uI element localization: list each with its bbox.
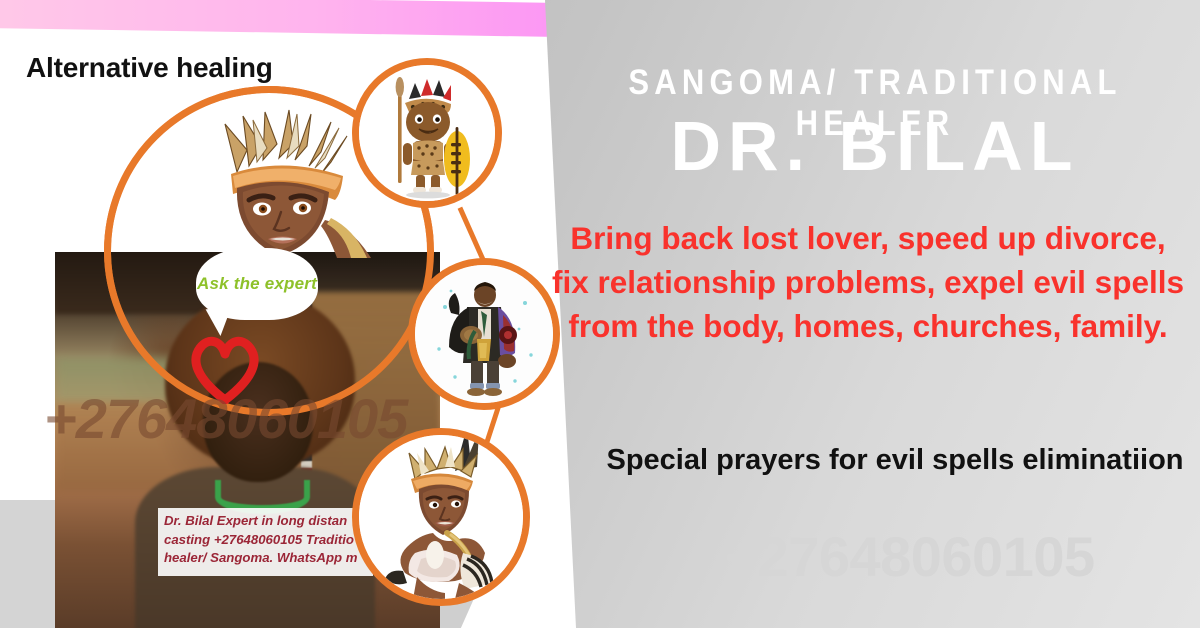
caption-line-2: casting +27648060105 Traditio <box>164 531 367 550</box>
decorative-pink-bar <box>0 0 598 38</box>
badge-zulu-warrior-cartoon <box>352 58 502 208</box>
bubble-text-block: Ask the expert <box>197 274 317 294</box>
ask-the-expert-bubble: Ask the expert <box>196 248 318 320</box>
crouching-dancer-icon <box>359 435 523 599</box>
zulu-warrior-icon <box>359 65 495 201</box>
services-description: Bring back lost lover, speed up divorce,… <box>548 216 1188 348</box>
page-title: Alternative healing <box>26 52 273 84</box>
badge-connector-line <box>458 207 488 266</box>
bubble-line-1: Ask the <box>197 274 260 293</box>
photo-caption-box: Dr. Bilal Expert in long distan casting … <box>158 508 373 576</box>
bubble-line-2: expert <box>265 274 317 293</box>
poster-canvas: Ask the expert +27648060105 Dr. Bilal Ex… <box>0 0 1200 628</box>
traditional-healer-icon <box>415 265 553 403</box>
caption-line-1: Dr. Bilal Expert in long distan <box>164 512 367 531</box>
brand-name-heading: DR. BILAL <box>560 110 1190 184</box>
badge-crouching-dancer-figure <box>352 428 530 606</box>
special-offer-text: Special prayers for evil spells eliminat… <box>600 440 1190 481</box>
panel-phone-watermark: +27648060105 <box>620 524 1200 589</box>
badge-traditional-healer-figure <box>408 258 560 410</box>
caption-line-3: healer/ Sangoma. WhatsApp m <box>164 549 367 568</box>
